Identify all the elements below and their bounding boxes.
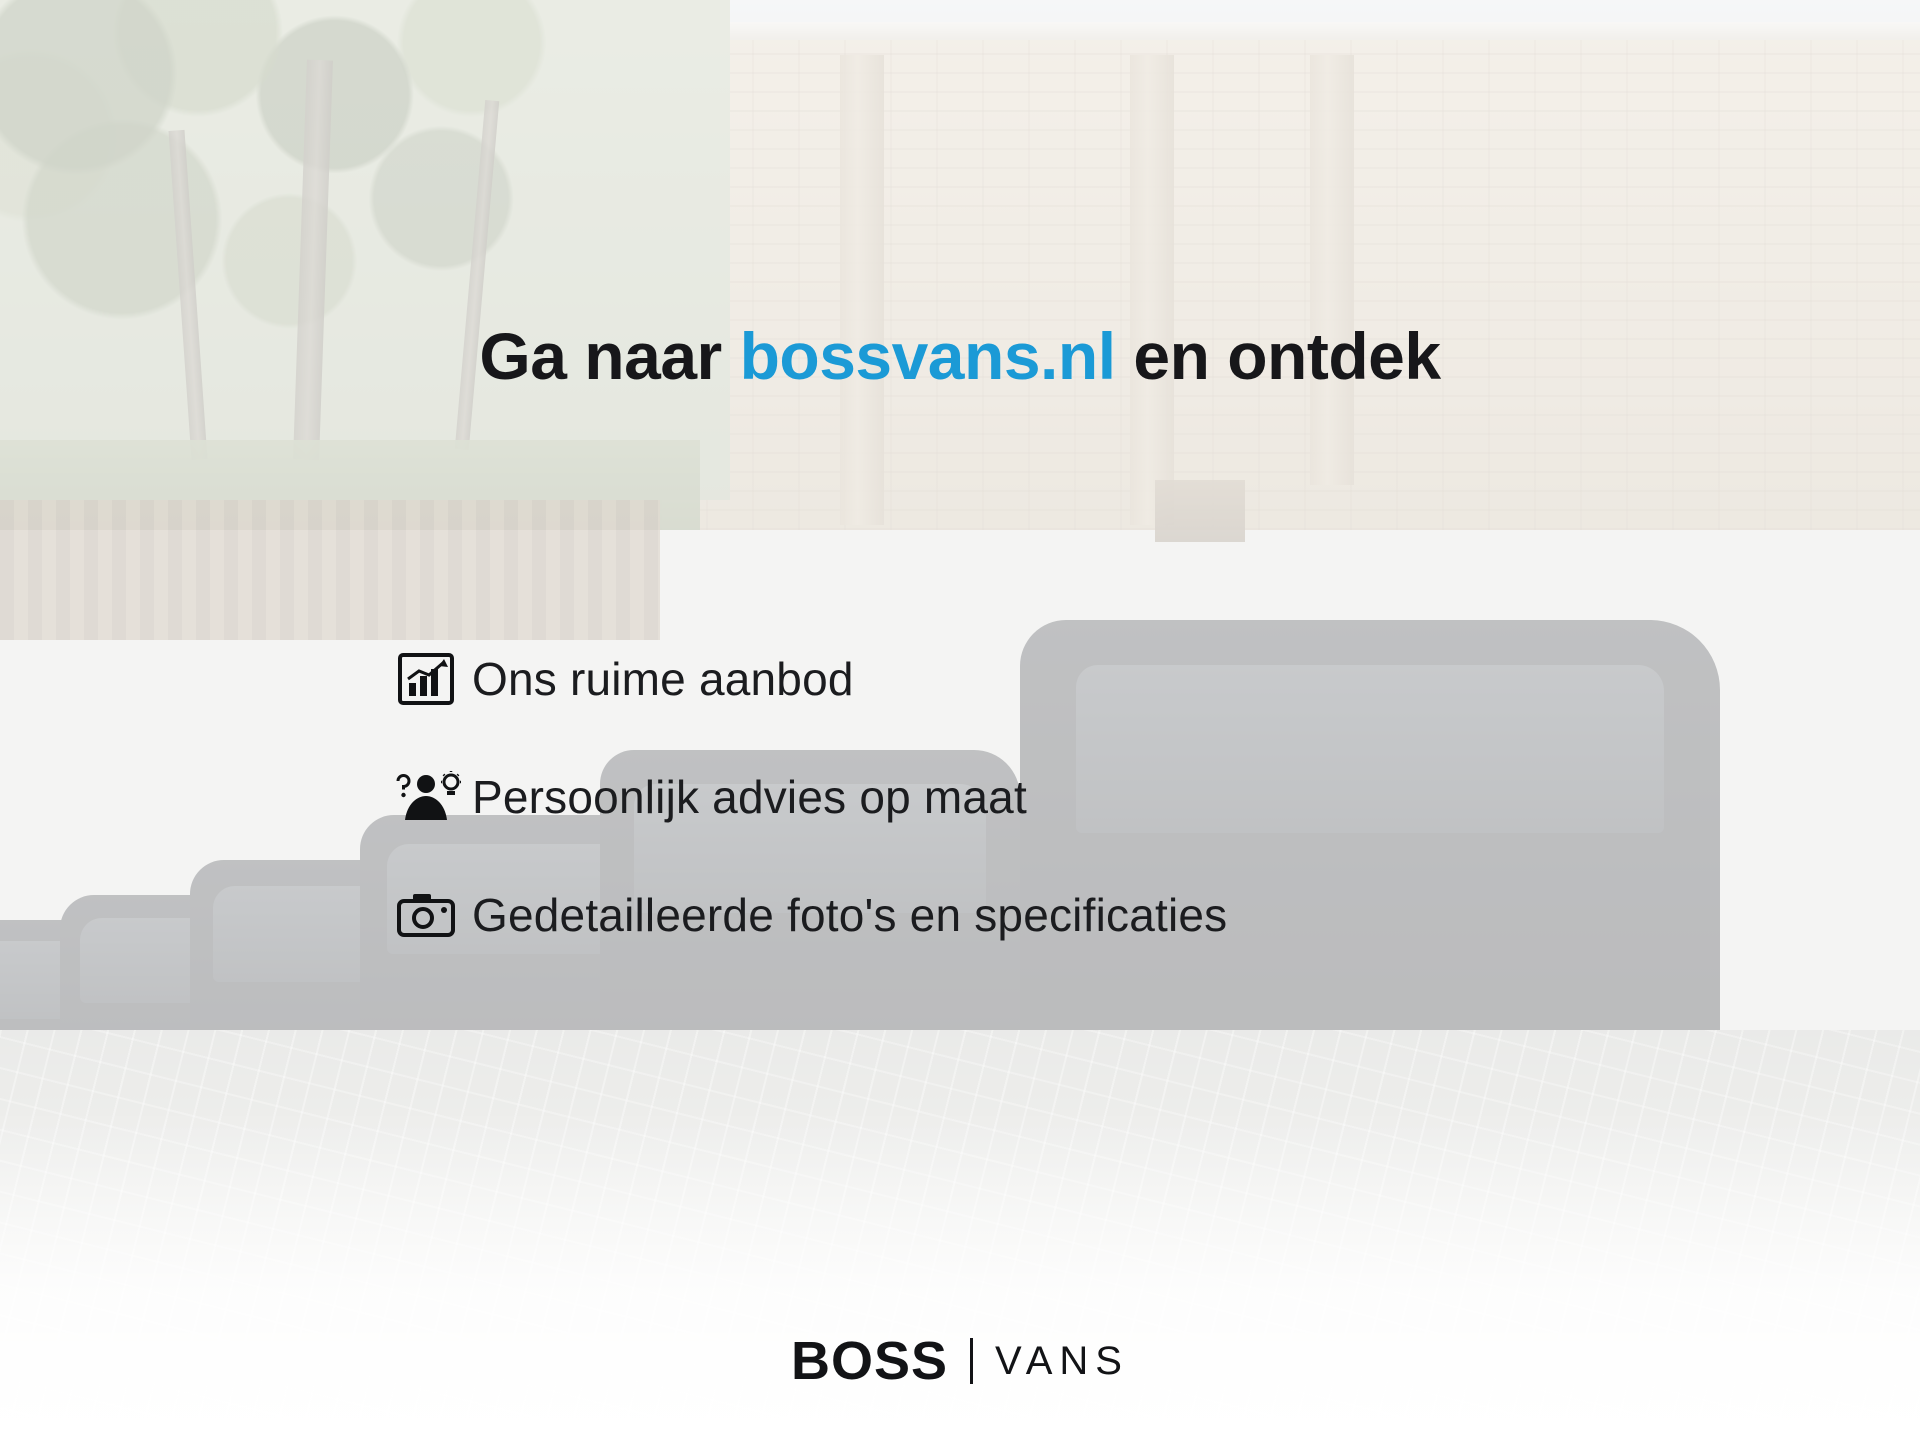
personal-advice-icon xyxy=(380,771,472,823)
page-title: Ga naar bossvans.nl en ontdek xyxy=(0,318,1920,394)
chart-bar-icon xyxy=(380,653,472,705)
logo-vans-text: VANS xyxy=(995,1339,1129,1384)
list-item: Ons ruime aanbod xyxy=(380,620,1680,738)
logo-boss-text: BOSS xyxy=(791,1330,948,1392)
list-item: Persoonlijk advies op maat xyxy=(380,738,1680,856)
list-item-label: Gedetailleerde foto's en specificaties xyxy=(472,888,1227,942)
footer-logo: BOSS VANS xyxy=(0,1330,1920,1392)
list-item-label: Persoonlijk advies op maat xyxy=(472,770,1027,824)
camera-icon xyxy=(380,891,472,939)
headline-brand: bossvans.nl xyxy=(740,319,1116,393)
slide-content: Ga naar bossvans.nl en ontdek Ons ruime … xyxy=(0,0,1920,1440)
logo-divider xyxy=(970,1338,973,1384)
slide-canvas: K-PFF-EN VH-266-D VXJ-46-Z VXX-98-G VHZ- xyxy=(0,0,1920,1440)
bullet-list: Ons ruime aanbod Persoonlijk advies op m… xyxy=(380,620,1680,974)
list-item-label: Ons ruime aanbod xyxy=(472,652,854,706)
list-item: Gedetailleerde foto's en specificaties xyxy=(380,856,1680,974)
headline-after: en ontdek xyxy=(1116,319,1441,393)
headline-before: Ga naar xyxy=(479,319,739,393)
